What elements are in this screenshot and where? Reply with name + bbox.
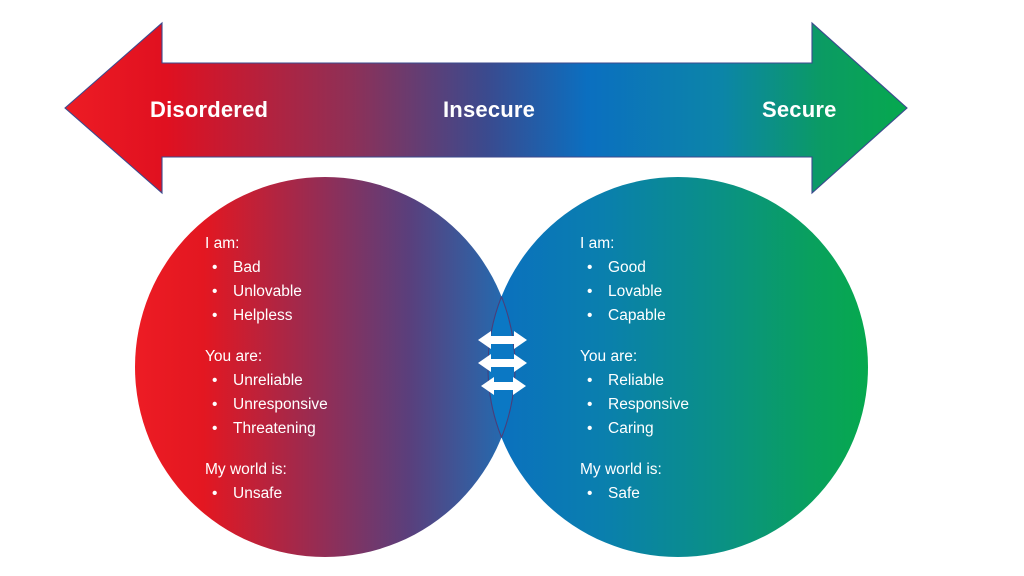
right-group-list: Reliable Responsive Caring (580, 369, 689, 441)
left-group-list: Bad Unlovable Helpless (205, 256, 328, 328)
right-group-list: Safe (580, 482, 689, 506)
list-item: Helpless (205, 304, 328, 328)
list-item: Bad (205, 256, 328, 280)
list-item: Capable (580, 304, 689, 328)
list-item: Unreliable (205, 369, 328, 393)
left-group-i-am: I am: Bad Unlovable Helpless (205, 232, 328, 328)
left-circle-text-block: I am: Bad Unlovable Helpless You are: Un… (205, 232, 328, 506)
left-group-list: Unsafe (205, 482, 328, 506)
list-item: Reliable (580, 369, 689, 393)
list-item: Responsive (580, 393, 689, 417)
right-group-list: Good Lovable Capable (580, 256, 689, 328)
right-circle-text-block: I am: Good Lovable Capable You are: Reli… (580, 232, 689, 506)
list-item: Unresponsive (205, 393, 328, 417)
arrow-label-insecure: Insecure (443, 99, 535, 121)
diagram-canvas: Disordered Insecure Secure I am: Bad Unl… (0, 0, 1024, 576)
right-group-heading: I am: (580, 232, 689, 256)
left-group-heading: I am: (205, 232, 328, 256)
right-group-heading: You are: (580, 345, 689, 369)
left-group-list: Unreliable Unresponsive Threatening (205, 369, 328, 441)
right-group-i-am: I am: Good Lovable Capable (580, 232, 689, 328)
list-item: Good (580, 256, 689, 280)
list-item: Caring (580, 417, 689, 441)
list-item: Safe (580, 482, 689, 506)
right-group-you-are: You are: Reliable Responsive Caring (580, 345, 689, 441)
shapes-layer (0, 0, 1024, 576)
list-item: Lovable (580, 280, 689, 304)
list-item: Threatening (205, 417, 328, 441)
right-group-my-world-is: My world is: Safe (580, 458, 689, 506)
list-item: Unsafe (205, 482, 328, 506)
exchange-arrow-group (478, 331, 527, 395)
arrow-label-secure: Secure (762, 99, 837, 121)
left-group-heading: You are: (205, 345, 328, 369)
arrow-label-disordered: Disordered (150, 99, 268, 121)
left-group-heading: My world is: (205, 458, 328, 482)
list-item: Unlovable (205, 280, 328, 304)
left-group-my-world-is: My world is: Unsafe (205, 458, 328, 506)
right-group-heading: My world is: (580, 458, 689, 482)
left-group-you-are: You are: Unreliable Unresponsive Threate… (205, 345, 328, 441)
